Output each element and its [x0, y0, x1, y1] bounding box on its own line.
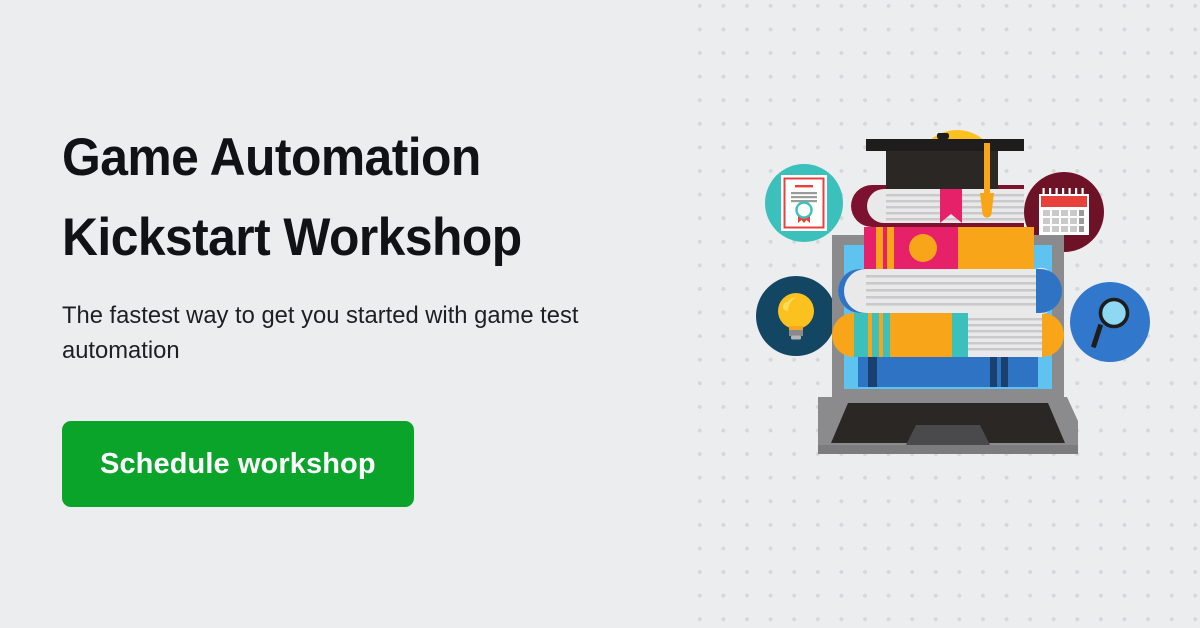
banner-subtitle: The fastest way to get you started with … [62, 298, 668, 368]
laptop-books-illustration [818, 119, 1078, 469]
banner-text-block: Game Automation Kickstart Workshop The f… [62, 118, 662, 368]
lightbulb-icon [774, 289, 818, 343]
education-illustration [740, 118, 1160, 488]
schedule-workshop-button[interactable]: Schedule workshop [62, 421, 414, 507]
search-badge [1070, 282, 1150, 362]
marketing-banner: Game Automation Kickstart Workshop The f… [0, 0, 1200, 628]
laptop-with-books [818, 119, 1078, 469]
magnifier-icon [1085, 296, 1135, 348]
page-title: Game Automation Kickstart Workshop [62, 118, 626, 278]
